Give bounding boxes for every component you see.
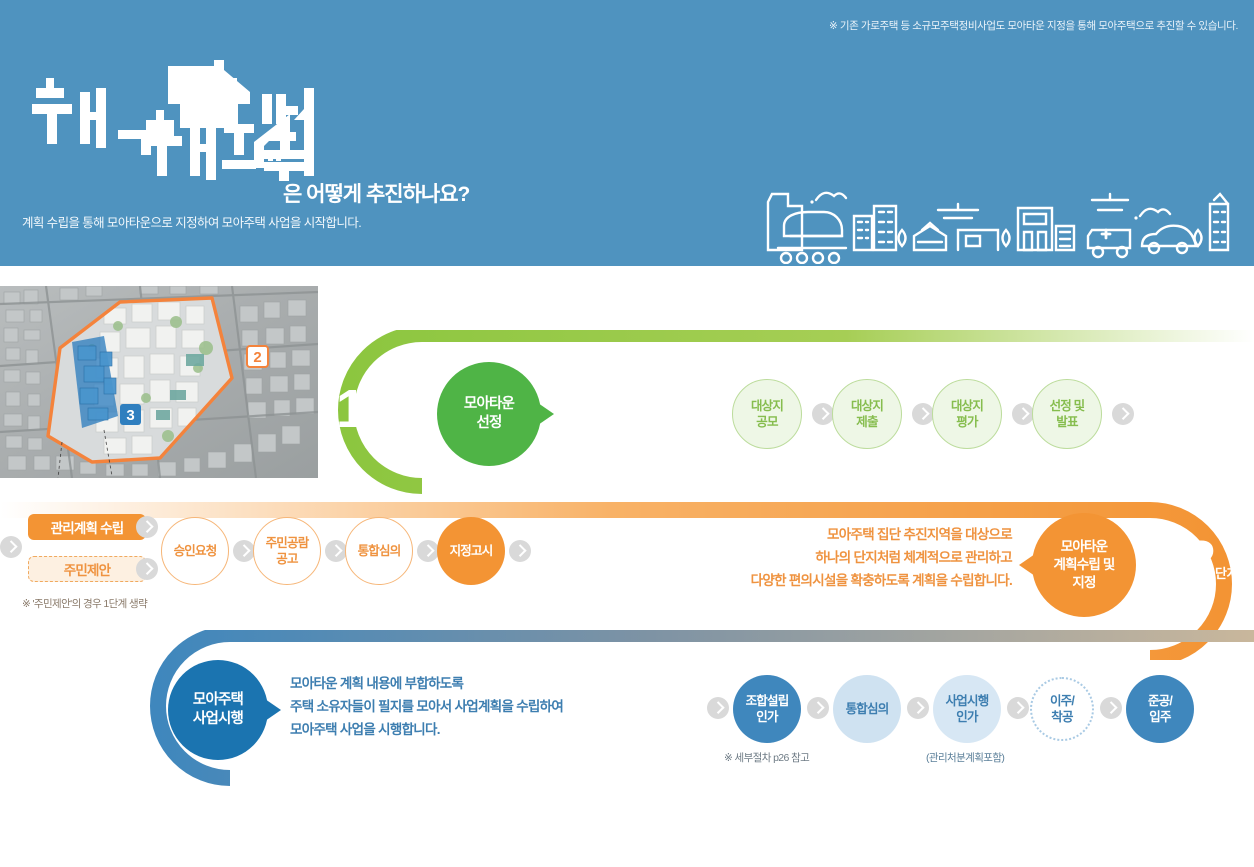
node-label-line1: 대상지 xyxy=(751,398,783,414)
step-3-node-1[interactable]: 통합심의 xyxy=(833,675,901,743)
node-label-line1: 승인요청 xyxy=(174,543,217,559)
cityscape-icon xyxy=(762,186,1232,264)
step-2-paragraph: 모아주택 집단 추진지역을 대상으로 하나의 단지처럼 체계적으로 관리하고 다… xyxy=(700,523,1012,593)
aerial-badge-3: 3 xyxy=(120,404,141,425)
node-label-line1: 대상지 xyxy=(851,398,883,414)
svg-text:2: 2 xyxy=(253,349,261,366)
step-1-bubble-tail xyxy=(538,403,554,425)
step-3-node-0-note: ※ 세부절차 p26 참고 xyxy=(724,750,809,765)
step-2-title-bubble: 모아타운 계획수립 및 지정 xyxy=(1032,513,1136,617)
node-label-line1: 지정고시 xyxy=(450,543,493,559)
moa-logo-svg xyxy=(18,58,538,188)
step-1-node-3[interactable]: 선정 및 발표 xyxy=(1032,379,1102,449)
step-2-title-line2: 계획수립 및 xyxy=(1053,556,1114,574)
node-label-line1: 주민공람 xyxy=(266,535,309,551)
step-1-title-line2: 선정 xyxy=(464,414,514,433)
node-label-line2: 평가 xyxy=(951,414,983,430)
step-1-title-line1: 모아타운 xyxy=(464,395,514,414)
step-3-arrow-2 xyxy=(1007,697,1029,719)
step-3-title-bubble: 모아주택 사업시행 xyxy=(168,660,268,760)
infographic-page: ※ 기존 가로주택 등 소규모주택정비사업도 모아타운 지정을 통해 모아주택으… xyxy=(0,0,1254,867)
step-2-arrow-3 xyxy=(509,540,531,562)
step-2-arrow-2 xyxy=(417,540,439,562)
step-3-arrow-1 xyxy=(907,697,929,719)
step-1-arrow-3 xyxy=(1112,403,1134,425)
step-2-node-2[interactable]: 통합심의 xyxy=(345,517,413,585)
node-label-line1: 통합심의 xyxy=(358,543,401,559)
paragraph-line-1: 모아주택 집단 추진지역을 대상으로 xyxy=(700,523,1012,546)
step-3-node-0[interactable]: 조합설립 인가 xyxy=(733,675,801,743)
step-1-node-2[interactable]: 대상지 평가 xyxy=(932,379,1002,449)
step-3-paragraph: 모아타운 계획 내용에 부합하도록 주택 소유자들이 필지를 모아서 사업계획을… xyxy=(290,672,630,742)
step-2-arrow-pill-1 xyxy=(136,558,158,580)
node-label-line2: 발표 xyxy=(1050,414,1085,430)
step-3-node-2-note: (관리처분계획포함) xyxy=(926,750,1004,765)
node-label-line2: 착공 xyxy=(1050,709,1074,725)
step-3-bubble-tail xyxy=(265,699,281,721)
paragraph-line-2: 주택 소유자들이 필지를 모아서 사업계획을 수립하여 xyxy=(290,695,630,718)
node-label-line1: 이주/ xyxy=(1050,693,1074,709)
step-2-number: 2단계 xyxy=(1186,533,1238,587)
step-1-title-bubble: 모아타운 선정 xyxy=(437,362,541,466)
node-label-line2: 인가 xyxy=(746,709,789,725)
step-2-node-3[interactable]: 지정고시 xyxy=(437,517,505,585)
node-label-line1: 대상지 xyxy=(951,398,983,414)
step-3-arrow-entry xyxy=(707,697,729,719)
step-3-arrow-0 xyxy=(807,697,829,719)
step-3-number: 3단계 xyxy=(70,680,122,734)
step-1-arrow-1 xyxy=(912,403,934,425)
step-3-node-3[interactable]: 이주/ 착공 xyxy=(1030,677,1094,741)
page-header: ※ 기존 가로주택 등 소규모주택정비사업도 모아타운 지정을 통해 모아주택으… xyxy=(0,0,1254,266)
step-2-arrow-0 xyxy=(233,540,255,562)
node-label-line1: 통합심의 xyxy=(846,701,889,717)
step-2-node-1[interactable]: 주민공람 공고 xyxy=(253,517,321,585)
step-1-arrow-2 xyxy=(1012,403,1034,425)
step-3-title-line2: 사업시행 xyxy=(193,710,243,729)
aerial-map-svg: 2 3 xyxy=(0,286,318,478)
pill-label: 관리계획 수립 xyxy=(51,517,124,537)
node-label-line2: 인가 xyxy=(946,709,989,725)
step-3-title-line1: 모아주택 xyxy=(193,691,243,710)
step-2-arrow-entry xyxy=(0,536,22,558)
node-label-line1: 조합설립 xyxy=(746,693,789,709)
node-label-line1: 선정 및 xyxy=(1050,398,1085,414)
step-2-arrow-pill-0 xyxy=(136,516,158,538)
moa-logo xyxy=(18,58,538,188)
step-1-arrow-0 xyxy=(812,403,834,425)
step-2-pill-note: ※ '주민제안'의 경우 1단계 생략 xyxy=(22,596,147,611)
node-label-line2: 공모 xyxy=(751,414,783,430)
aerial-site-image: 2 3 xyxy=(0,286,318,478)
header-question: 은 어떻게 추진하나요? xyxy=(283,178,469,208)
header-subtitle: 계획 수립을 통해 모아타운으로 지정하여 모아주택 사업을 시작합니다. xyxy=(22,212,361,231)
paragraph-line-3: 모아주택 사업을 시행합니다. xyxy=(290,718,630,741)
node-label-line1: 준공/ xyxy=(1148,693,1172,709)
paragraph-line-3: 다양한 편의시설을 확충하도록 계획을 수립합니다. xyxy=(700,569,1012,592)
step-2-pill-management-plan[interactable]: 관리계획 수립 xyxy=(28,514,146,540)
step-3-node-4[interactable]: 준공/ 입주 xyxy=(1126,675,1194,743)
step-1-number: 1단계 xyxy=(336,382,388,436)
node-label-line1: 사업시행 xyxy=(946,693,989,709)
step-3-node-2[interactable]: 사업시행 인가 xyxy=(933,675,1001,743)
paragraph-line-2: 하나의 단지처럼 체계적으로 관리하고 xyxy=(700,546,1012,569)
step-2-arrow-1 xyxy=(325,540,347,562)
node-label-line2: 공고 xyxy=(266,551,309,567)
step-3-arrow-3 xyxy=(1100,697,1122,719)
step-2-pill-resident-proposal[interactable]: 주민제안 xyxy=(28,556,146,582)
paragraph-line-1: 모아타운 계획 내용에 부합하도록 xyxy=(290,672,630,695)
step-2-node-0[interactable]: 승인요청 xyxy=(161,517,229,585)
step-2-title-line3: 지정 xyxy=(1053,574,1114,592)
step-1-node-0[interactable]: 대상지 공모 xyxy=(732,379,802,449)
header-note: ※ 기존 가로주택 등 소규모주택정비사업도 모아타운 지정을 통해 모아주택으… xyxy=(829,18,1238,33)
node-label-line2: 입주 xyxy=(1148,709,1172,725)
node-label-line2: 제출 xyxy=(851,414,883,430)
step-2-title-line1: 모아타운 xyxy=(1053,538,1114,556)
aerial-badge-2: 2 xyxy=(247,346,268,367)
svg-text:3: 3 xyxy=(126,407,134,424)
pill-label: 주민제안 xyxy=(64,559,110,579)
step-1-node-1[interactable]: 대상지 제출 xyxy=(832,379,902,449)
